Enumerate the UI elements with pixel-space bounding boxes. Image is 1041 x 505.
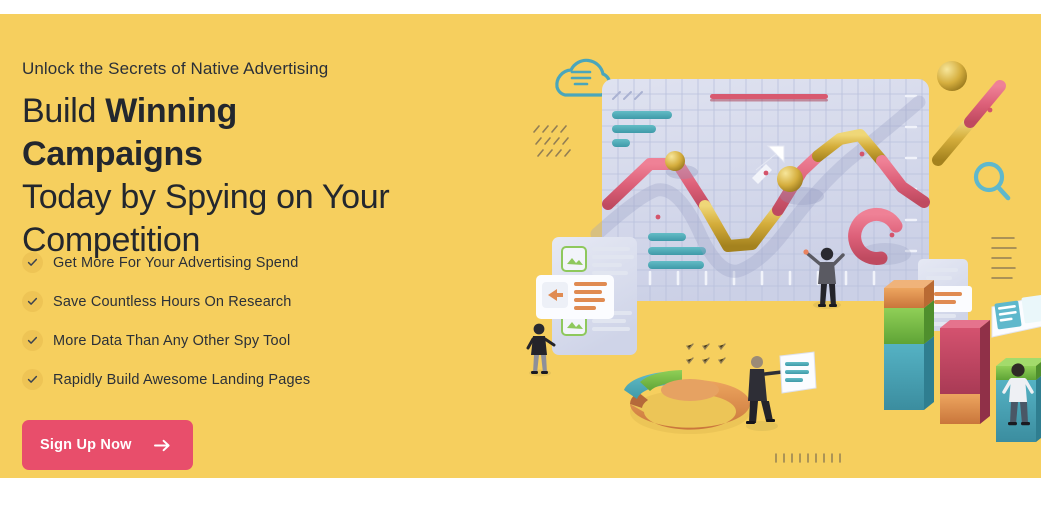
dashed-marks — [534, 126, 570, 156]
cta-label: Sign Up Now — [40, 437, 132, 453]
hero-page: Unlock the Secrets of Native Advertising… — [0, 0, 1041, 505]
benefit-label: Get More For Your Advertising Spend — [53, 255, 298, 271]
bottom-dashes — [776, 454, 840, 462]
check-icon — [22, 369, 43, 390]
standing-person-left — [528, 324, 554, 377]
check-icon — [22, 330, 43, 351]
donut-chart — [624, 370, 750, 434]
document-card-stack — [536, 237, 637, 355]
red-trend-line — [710, 94, 828, 102]
sign-up-now-button[interactable]: Sign Up Now — [22, 420, 193, 470]
list-item: Get More For Your Advertising Spend — [22, 250, 310, 275]
benefit-list: Get More For Your Advertising Spend Save… — [22, 250, 310, 406]
benefit-label: Save Countless Hours On Research — [53, 294, 292, 310]
list-item: More Data Than Any Other Spy Tool — [22, 328, 310, 353]
headline-line2: Today by Spying on Your — [22, 178, 389, 216]
hero-eyebrow: Unlock the Secrets of Native Advertising — [22, 58, 492, 80]
hero-illustration — [500, 14, 1041, 478]
check-dots-decoration — [687, 344, 725, 363]
benefit-label: Rapidly Build Awesome Landing Pages — [53, 372, 310, 388]
arrow-right-icon — [154, 439, 171, 452]
benefit-label: More Data Than Any Other Spy Tool — [53, 333, 290, 349]
headline-line1-regular: Build — [22, 92, 105, 130]
seated-person-with-card — [746, 352, 816, 431]
magnifier-icon — [976, 164, 1008, 198]
list-item: Rapidly Build Awesome Landing Pages — [22, 367, 310, 392]
page-title: Build Winning Campaigns Today by Spying … — [22, 90, 422, 262]
hero-copy-column: Unlock the Secrets of Native Advertising… — [22, 58, 492, 262]
floating-info-card — [992, 294, 1041, 337]
cloud-upload-icon — [557, 60, 610, 95]
check-icon — [22, 252, 43, 273]
hero-band: Unlock the Secrets of Native Advertising… — [0, 14, 1041, 478]
ascending-segment — [938, 86, 1000, 160]
check-icon — [22, 291, 43, 312]
list-item: Save Countless Hours On Research — [22, 289, 310, 314]
text-placeholder-lines — [992, 238, 1016, 278]
